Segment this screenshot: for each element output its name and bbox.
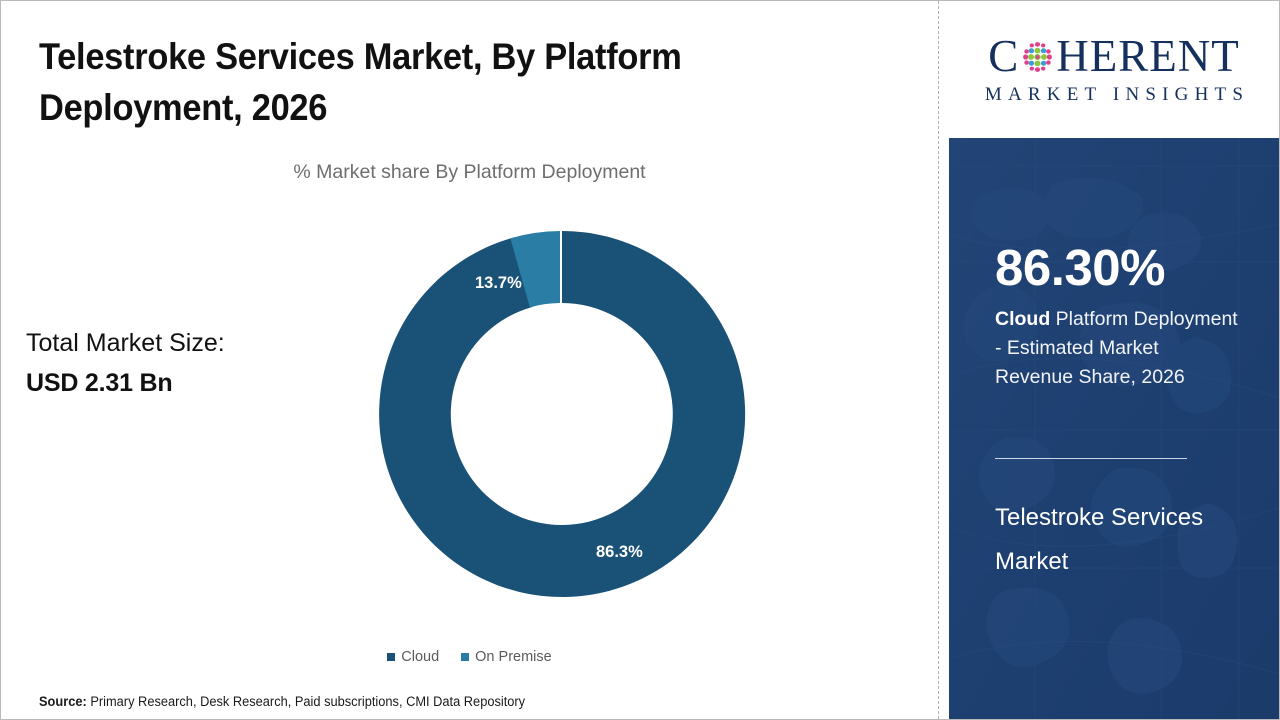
donut-label-on-premise: 13.7% [475, 274, 522, 293]
brand-pane: C [949, 1, 1279, 719]
stat-description-highlight: Cloud [995, 308, 1050, 330]
pane-divider [938, 1, 939, 719]
legend-swatch-cloud [387, 653, 395, 661]
page-title: Telestroke Services Market, By Platform … [39, 31, 764, 133]
stat-panel-content: 86.30% Cloud Platform Deployment - Estim… [995, 138, 1257, 719]
donut-svg [372, 224, 752, 604]
logo: C [949, 1, 1279, 138]
infographic-frame: Telestroke Services Market, By Platform … [0, 0, 1280, 720]
source-label: Source: [39, 694, 87, 709]
stat-description: Cloud Platform Deployment - Estimated Ma… [995, 305, 1241, 392]
donut-slice-cloud[interactable] [379, 231, 745, 597]
donut-chart: 13.7% 86.3% [372, 224, 752, 604]
legend-swatch-on-premise [461, 653, 469, 661]
logo-letters-herent: HERENT [1056, 34, 1239, 79]
logo-letter-c: C [988, 34, 1019, 79]
market-name: Telestroke Services Market [995, 496, 1245, 584]
globe-icon [1020, 38, 1055, 74]
donut-label-cloud: 86.3% [596, 543, 643, 562]
stat-panel: 86.30% Cloud Platform Deployment - Estim… [949, 138, 1279, 719]
logo-wordmark: C [988, 34, 1240, 79]
total-market-size-label: Total Market Size: [26, 323, 356, 363]
legend-label-cloud: Cloud [401, 649, 439, 665]
source-note: Source: Primary Research, Desk Research,… [39, 694, 525, 709]
source-text: Primary Research, Desk Research, Paid su… [87, 694, 525, 709]
logo-tagline: MARKET INSIGHTS [979, 84, 1249, 106]
total-market-size-value: USD 2.31 Bn [26, 363, 356, 403]
chart-subtitle: % Market share By Platform Deployment [1, 161, 938, 184]
total-market-size: Total Market Size: USD 2.31 Bn [26, 323, 356, 403]
legend-label-on-premise: On Premise [475, 649, 552, 665]
chart-legend: Cloud On Premise [1, 649, 938, 665]
legend-item-on-premise[interactable]: On Premise [461, 649, 552, 665]
legend-item-cloud[interactable]: Cloud [387, 649, 439, 665]
chart-pane: Telestroke Services Market, By Platform … [1, 1, 938, 719]
stat-divider [995, 458, 1187, 459]
stat-number: 86.30% [995, 242, 1165, 293]
